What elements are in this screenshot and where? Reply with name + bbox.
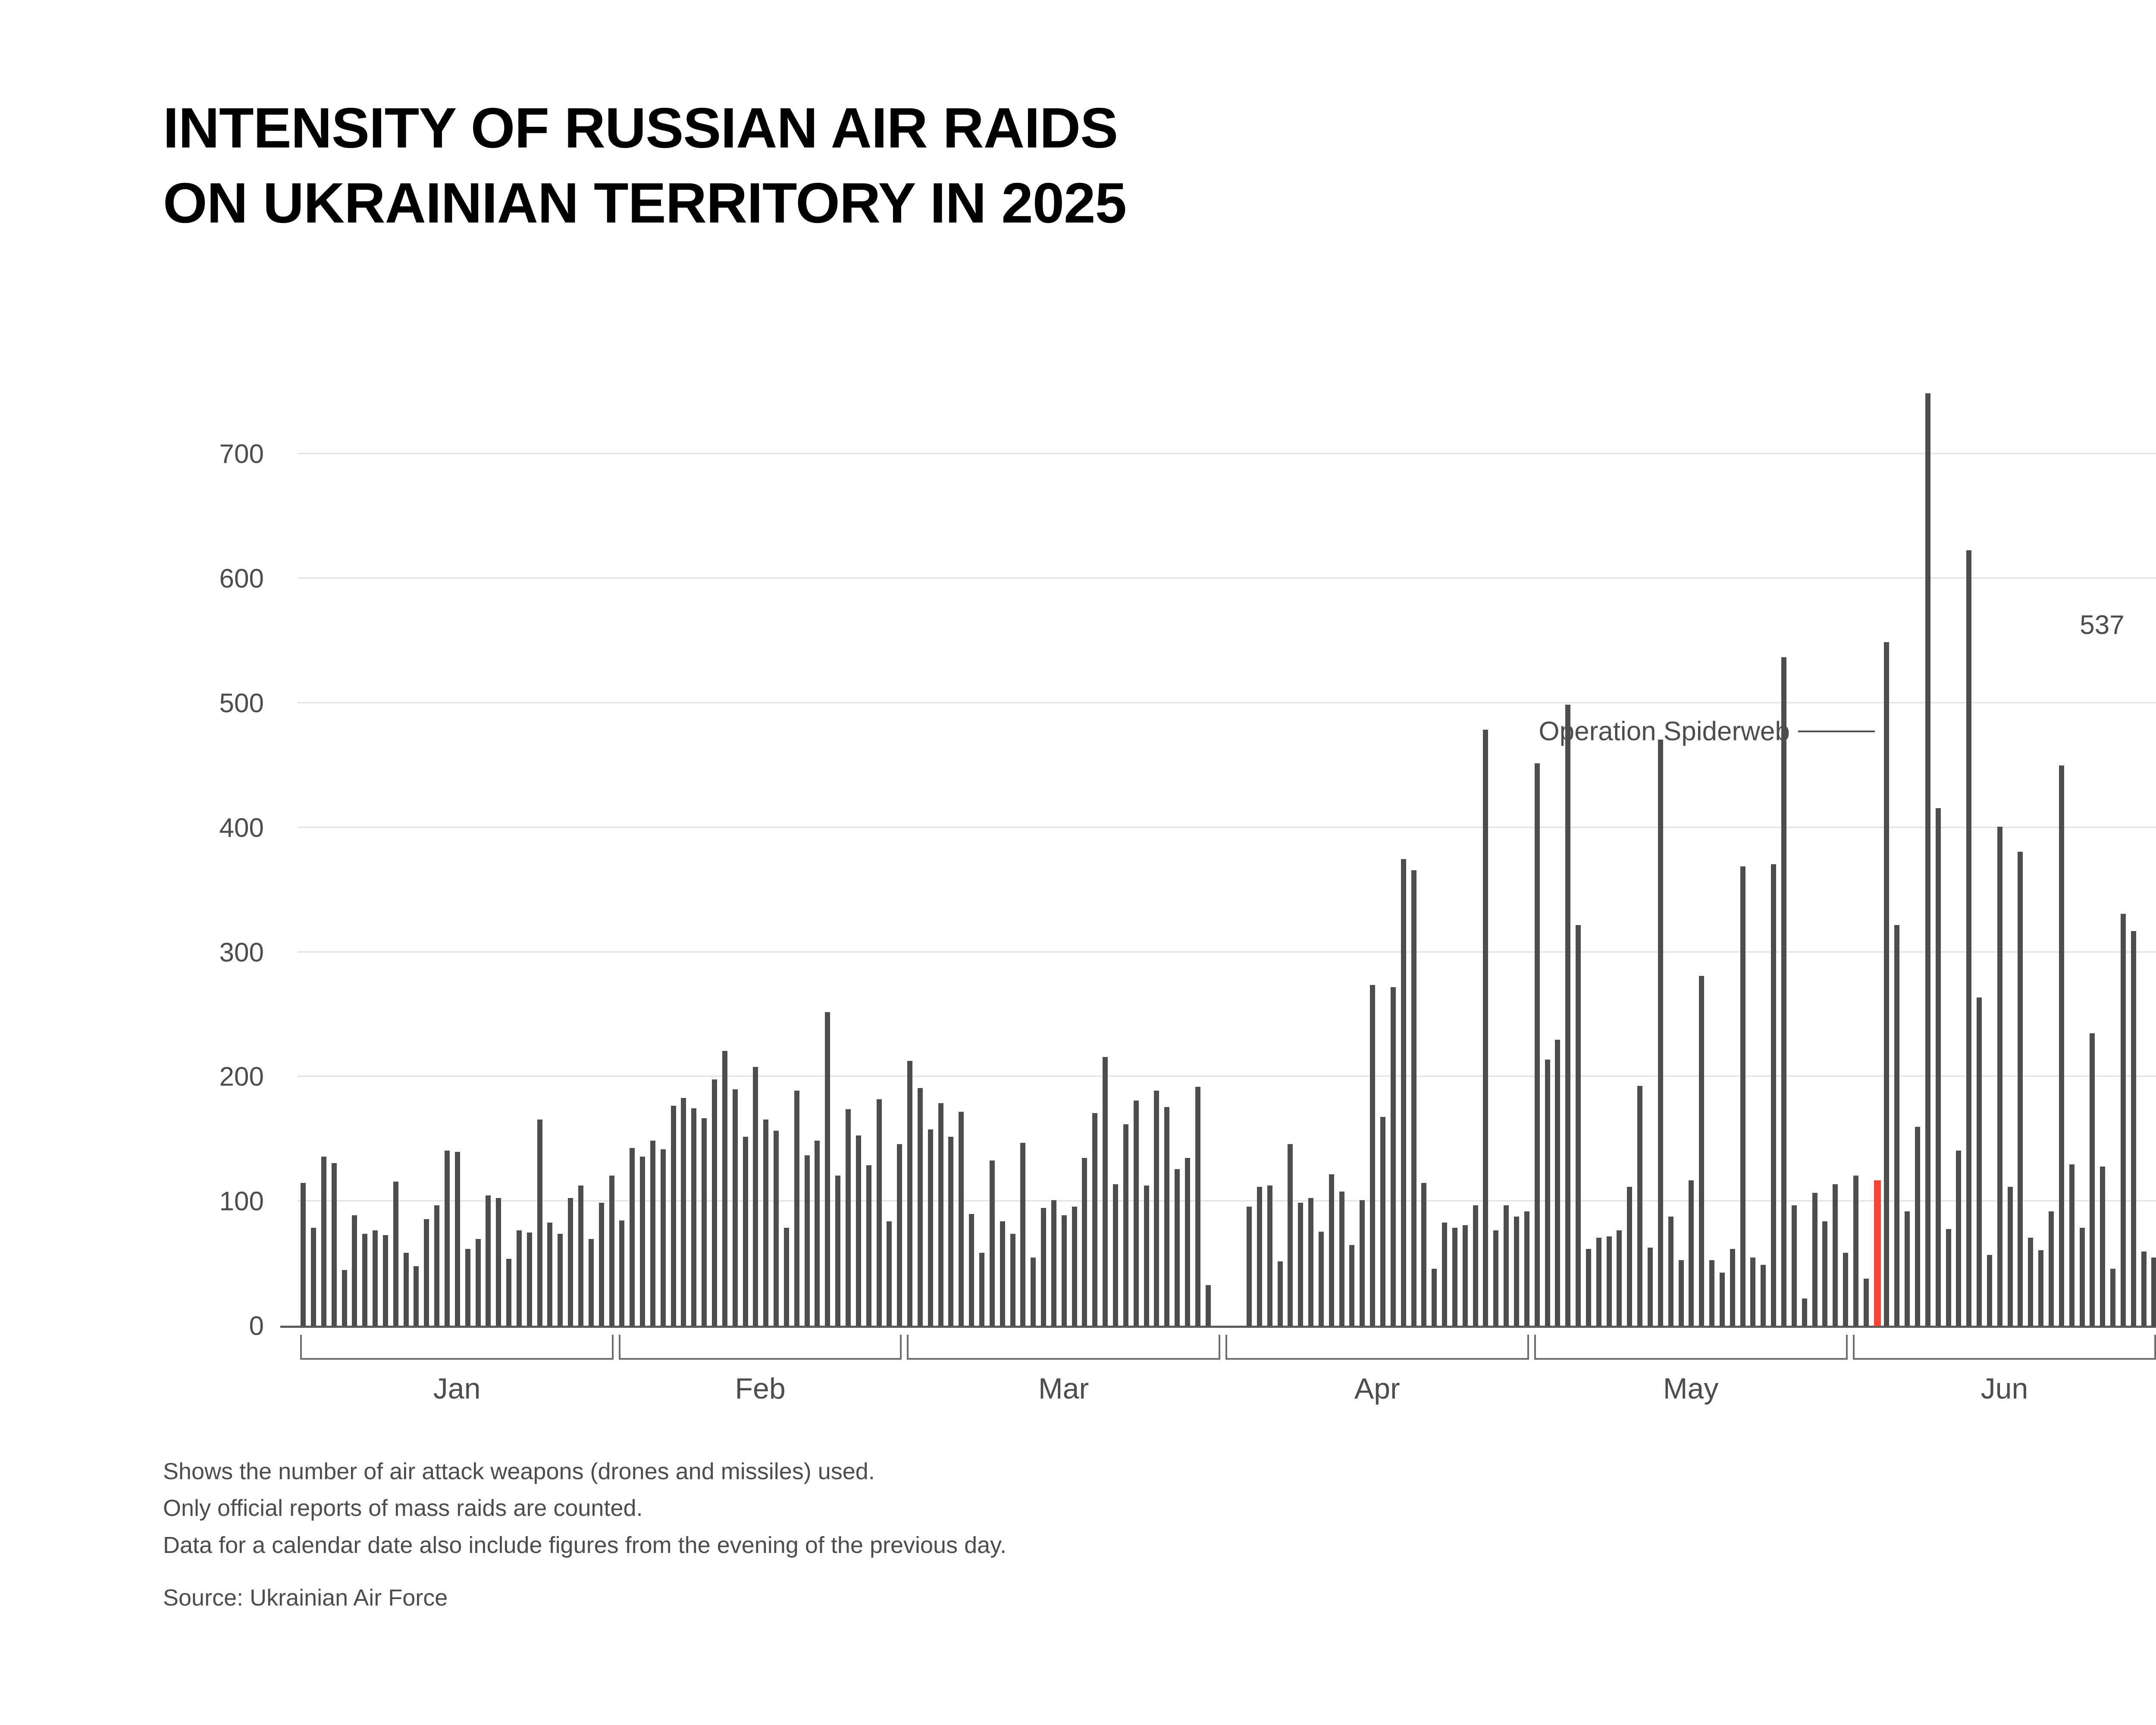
bar: [846, 1109, 851, 1326]
bar: [311, 1228, 316, 1326]
bar: [1884, 642, 1889, 1326]
bar: [835, 1176, 840, 1326]
bar: [393, 1182, 398, 1326]
bar: [1483, 730, 1488, 1326]
bar: [1648, 1248, 1653, 1326]
bar: [2018, 852, 2023, 1326]
bar: [1864, 1279, 1869, 1326]
bar: [938, 1103, 943, 1326]
month-label: Jan: [433, 1372, 481, 1405]
x-axis-month-groups: JanFebMarAprMayJunJulAug: [298, 1335, 2156, 1473]
bar: [2141, 1251, 2147, 1326]
bar: [1822, 1221, 1827, 1326]
bar: [1792, 1205, 1797, 1326]
bar: [1020, 1143, 1025, 1326]
bar: [907, 1061, 912, 1326]
bar: [301, 1183, 306, 1326]
bar: [1257, 1187, 1262, 1326]
footnote-line: Shows the number of air attack weapons (…: [163, 1453, 1888, 1490]
bar: [1843, 1253, 1848, 1326]
bar: [434, 1205, 439, 1326]
grid-line: [298, 1076, 2156, 1077]
bar: [1977, 997, 1982, 1326]
bar: [1134, 1101, 1139, 1326]
bar: [1144, 1186, 1149, 1326]
bar: [1329, 1174, 1334, 1326]
y-axis-tick-label: 600: [219, 564, 264, 594]
bar: [691, 1108, 696, 1326]
bar: [1452, 1228, 1457, 1326]
bar: [702, 1118, 707, 1326]
bar: [1586, 1249, 1591, 1326]
bar: [1658, 740, 1663, 1326]
bar: [1679, 1260, 1684, 1326]
bar: [2090, 1033, 2095, 1326]
bar: [1113, 1184, 1118, 1326]
bar: [712, 1079, 717, 1326]
bar: [1000, 1221, 1005, 1326]
bar: [1637, 1086, 1642, 1326]
bar: [414, 1266, 419, 1326]
bar: [1391, 987, 1396, 1326]
bar: [547, 1223, 552, 1326]
bar: [1689, 1180, 1694, 1326]
bar: [918, 1088, 923, 1326]
footnote-line: Data for a calendar date also include fi…: [163, 1527, 1888, 1564]
bar: [558, 1234, 563, 1326]
bar: [527, 1233, 532, 1326]
bar: [1267, 1186, 1272, 1326]
bar: [1380, 1117, 1385, 1326]
bar: [1154, 1091, 1159, 1326]
bar: [1432, 1269, 1437, 1326]
bar: [373, 1230, 378, 1326]
bar: [1370, 985, 1375, 1326]
grid-line: [298, 702, 2156, 703]
bar: [1771, 864, 1776, 1327]
month-bracket: [1853, 1335, 2156, 1360]
bar: [671, 1106, 676, 1326]
bar: [1411, 870, 1416, 1326]
bar: [1617, 1230, 1622, 1326]
bar: [1473, 1205, 1478, 1326]
bar: [609, 1176, 614, 1326]
y-axis-tick-label: 300: [219, 937, 264, 968]
chart-header: INTENSITY OF RUSSIAN AIR RAIDS ON UKRAIN…: [0, 0, 2156, 276]
bar: [1576, 925, 1581, 1326]
bar: [455, 1152, 460, 1326]
y-axis-tick-label: 100: [219, 1186, 264, 1217]
month-label: May: [1663, 1372, 1718, 1405]
bar: [743, 1137, 748, 1326]
bar: [1555, 1040, 1560, 1326]
bar: [1709, 1260, 1714, 1326]
bar: [342, 1270, 347, 1326]
bar: [1524, 1211, 1529, 1326]
bar: [1997, 827, 2002, 1326]
bar: [2038, 1250, 2043, 1326]
footnote-line: Only official reports of mass raids are …: [163, 1490, 1888, 1527]
bar: [1596, 1238, 1601, 1326]
bar: [1740, 866, 1745, 1326]
y-axis-tick-label: 500: [219, 688, 264, 718]
bar: [1463, 1225, 1468, 1326]
bar: [1812, 1193, 1818, 1326]
bar: [2008, 1187, 2013, 1326]
bar: [681, 1098, 686, 1326]
bar: [506, 1259, 511, 1326]
bar: [362, 1234, 367, 1326]
month-label: Jun: [1981, 1372, 2028, 1405]
bar: [784, 1228, 789, 1326]
month-bracket: [907, 1335, 1220, 1360]
bar: [1894, 925, 1899, 1326]
month-label: Apr: [1354, 1372, 1400, 1405]
bar: [332, 1163, 337, 1326]
annotation-leader-line: [1798, 731, 1875, 732]
bar: [1031, 1258, 1036, 1326]
month-bracket: [300, 1335, 614, 1360]
bar: [1072, 1207, 1077, 1326]
bar: [465, 1249, 470, 1326]
month-bracket: [1534, 1335, 1848, 1360]
bar: [805, 1155, 810, 1326]
bar: [517, 1230, 522, 1326]
bar: [990, 1160, 995, 1326]
bar: [1288, 1144, 1293, 1326]
bar: [1946, 1229, 1951, 1326]
bar: [2100, 1167, 2105, 1326]
bar: [404, 1253, 409, 1326]
bar: [877, 1099, 882, 1326]
bar: [887, 1221, 892, 1326]
bar: [815, 1141, 820, 1326]
grid-line: [298, 453, 2156, 454]
bar: [640, 1157, 645, 1326]
bar: [1545, 1060, 1550, 1326]
y-axis-tick-label: 0: [249, 1311, 264, 1342]
month-bracket: [1225, 1335, 1529, 1360]
chart-plot-area: 537749629Operation Spiderweb: [298, 379, 2156, 1326]
bar: [1103, 1057, 1108, 1326]
bar: [1175, 1169, 1180, 1326]
bar: [2059, 765, 2064, 1326]
bar: [866, 1165, 871, 1326]
bar: [496, 1198, 501, 1326]
bar: [948, 1137, 953, 1326]
y-axis-tick-label: 200: [219, 1062, 264, 1092]
bar: [1915, 1127, 1920, 1326]
bar: [1092, 1113, 1097, 1326]
bar: [1514, 1217, 1519, 1326]
bar: [1565, 705, 1570, 1326]
bar: [897, 1144, 902, 1326]
bar: [1442, 1223, 1447, 1326]
bar: [1925, 393, 1930, 1326]
bar: [1360, 1200, 1365, 1326]
bar: [1041, 1208, 1046, 1326]
bar: [1905, 1211, 1910, 1326]
bar: [1987, 1255, 1992, 1326]
bar: [1720, 1273, 1725, 1326]
bar: [1699, 976, 1704, 1326]
bar-highlighted: [1874, 1180, 1881, 1326]
bar: [774, 1131, 779, 1326]
bar: [1504, 1205, 1509, 1326]
bar: [568, 1198, 573, 1326]
bar: [2121, 914, 2126, 1326]
bar: [1956, 1151, 1961, 1326]
bar: [1936, 808, 1941, 1326]
bar: [1319, 1232, 1324, 1327]
grid-line: [298, 577, 2156, 579]
bar: [1750, 1258, 1755, 1326]
bar: [1802, 1298, 1807, 1326]
bar: [1401, 859, 1406, 1326]
bar: [1421, 1183, 1426, 1326]
bar: [928, 1129, 933, 1326]
bar: [753, 1067, 758, 1326]
bar: [2049, 1211, 2054, 1326]
bar: [619, 1220, 624, 1326]
bar: [2131, 931, 2136, 1326]
bar: [1781, 657, 1786, 1326]
bar: [969, 1214, 974, 1326]
page-title: INTENSITY OF RUSSIAN AIR RAIDS ON UKRAIN…: [163, 91, 1126, 241]
bar: [2028, 1238, 2033, 1326]
bar: [445, 1151, 450, 1326]
bar: [383, 1235, 388, 1326]
bar: [2151, 1258, 2156, 1326]
source-note: Source: Ukrainian Air Force: [163, 1584, 1888, 1611]
bar-value-label: 537: [2080, 610, 2124, 640]
bar: [1082, 1158, 1087, 1326]
grid-line: [298, 827, 2156, 828]
bar: [1535, 763, 1540, 1326]
bar: [722, 1051, 727, 1326]
grid-line: [298, 951, 2156, 953]
bar: [1833, 1184, 1838, 1326]
bar: [476, 1239, 481, 1326]
bar: [650, 1141, 655, 1326]
bar: [959, 1112, 964, 1326]
bar: [1051, 1200, 1056, 1326]
bar: [1062, 1215, 1067, 1326]
bar: [1853, 1176, 1858, 1326]
annotation-label: Operation Spiderweb: [1539, 716, 1789, 746]
bar: [2080, 1228, 2085, 1326]
bar: [1247, 1207, 1252, 1326]
bar: [578, 1186, 583, 1326]
bar: [537, 1120, 542, 1326]
month-label: Feb: [735, 1372, 785, 1405]
bar: [1298, 1203, 1303, 1326]
bar: [589, 1239, 594, 1326]
bar: [599, 1203, 604, 1326]
bar: [1164, 1107, 1169, 1326]
bar: [1123, 1124, 1128, 1326]
bar: [763, 1120, 768, 1326]
bar: [1349, 1245, 1354, 1326]
bar: [352, 1215, 357, 1326]
y-axis-tick-label: 400: [219, 812, 264, 843]
bar: [2110, 1269, 2115, 1326]
bar: [1185, 1158, 1190, 1326]
bar: [794, 1091, 799, 1326]
bar: [1761, 1265, 1766, 1326]
bar: [1966, 550, 1971, 1326]
bar: [1627, 1187, 1632, 1326]
bar: [1730, 1249, 1735, 1326]
bar: [1493, 1230, 1498, 1326]
bar: [1308, 1198, 1313, 1326]
bar: [2069, 1164, 2075, 1326]
bar: [1206, 1285, 1211, 1326]
month-bracket: [619, 1335, 902, 1360]
bar: [1195, 1087, 1200, 1326]
bar: [733, 1089, 738, 1326]
bar: [630, 1148, 635, 1326]
bar: [424, 1219, 429, 1326]
bar: [321, 1157, 326, 1326]
bar: [979, 1253, 984, 1326]
bar: [661, 1149, 666, 1326]
bar: [1339, 1192, 1344, 1326]
bar: [1607, 1236, 1612, 1326]
y-axis: 0100200300400500600700: [0, 379, 298, 1326]
bar: [825, 1012, 830, 1326]
bar: [1278, 1261, 1283, 1326]
chart-footer: Shows the number of air attack weapons (…: [163, 1453, 1888, 1611]
bar: [856, 1135, 861, 1326]
y-axis-tick-label: 700: [219, 439, 264, 470]
bar: [1010, 1234, 1015, 1326]
month-label: Mar: [1038, 1372, 1089, 1405]
bar: [1668, 1217, 1673, 1326]
bar: [486, 1195, 491, 1326]
